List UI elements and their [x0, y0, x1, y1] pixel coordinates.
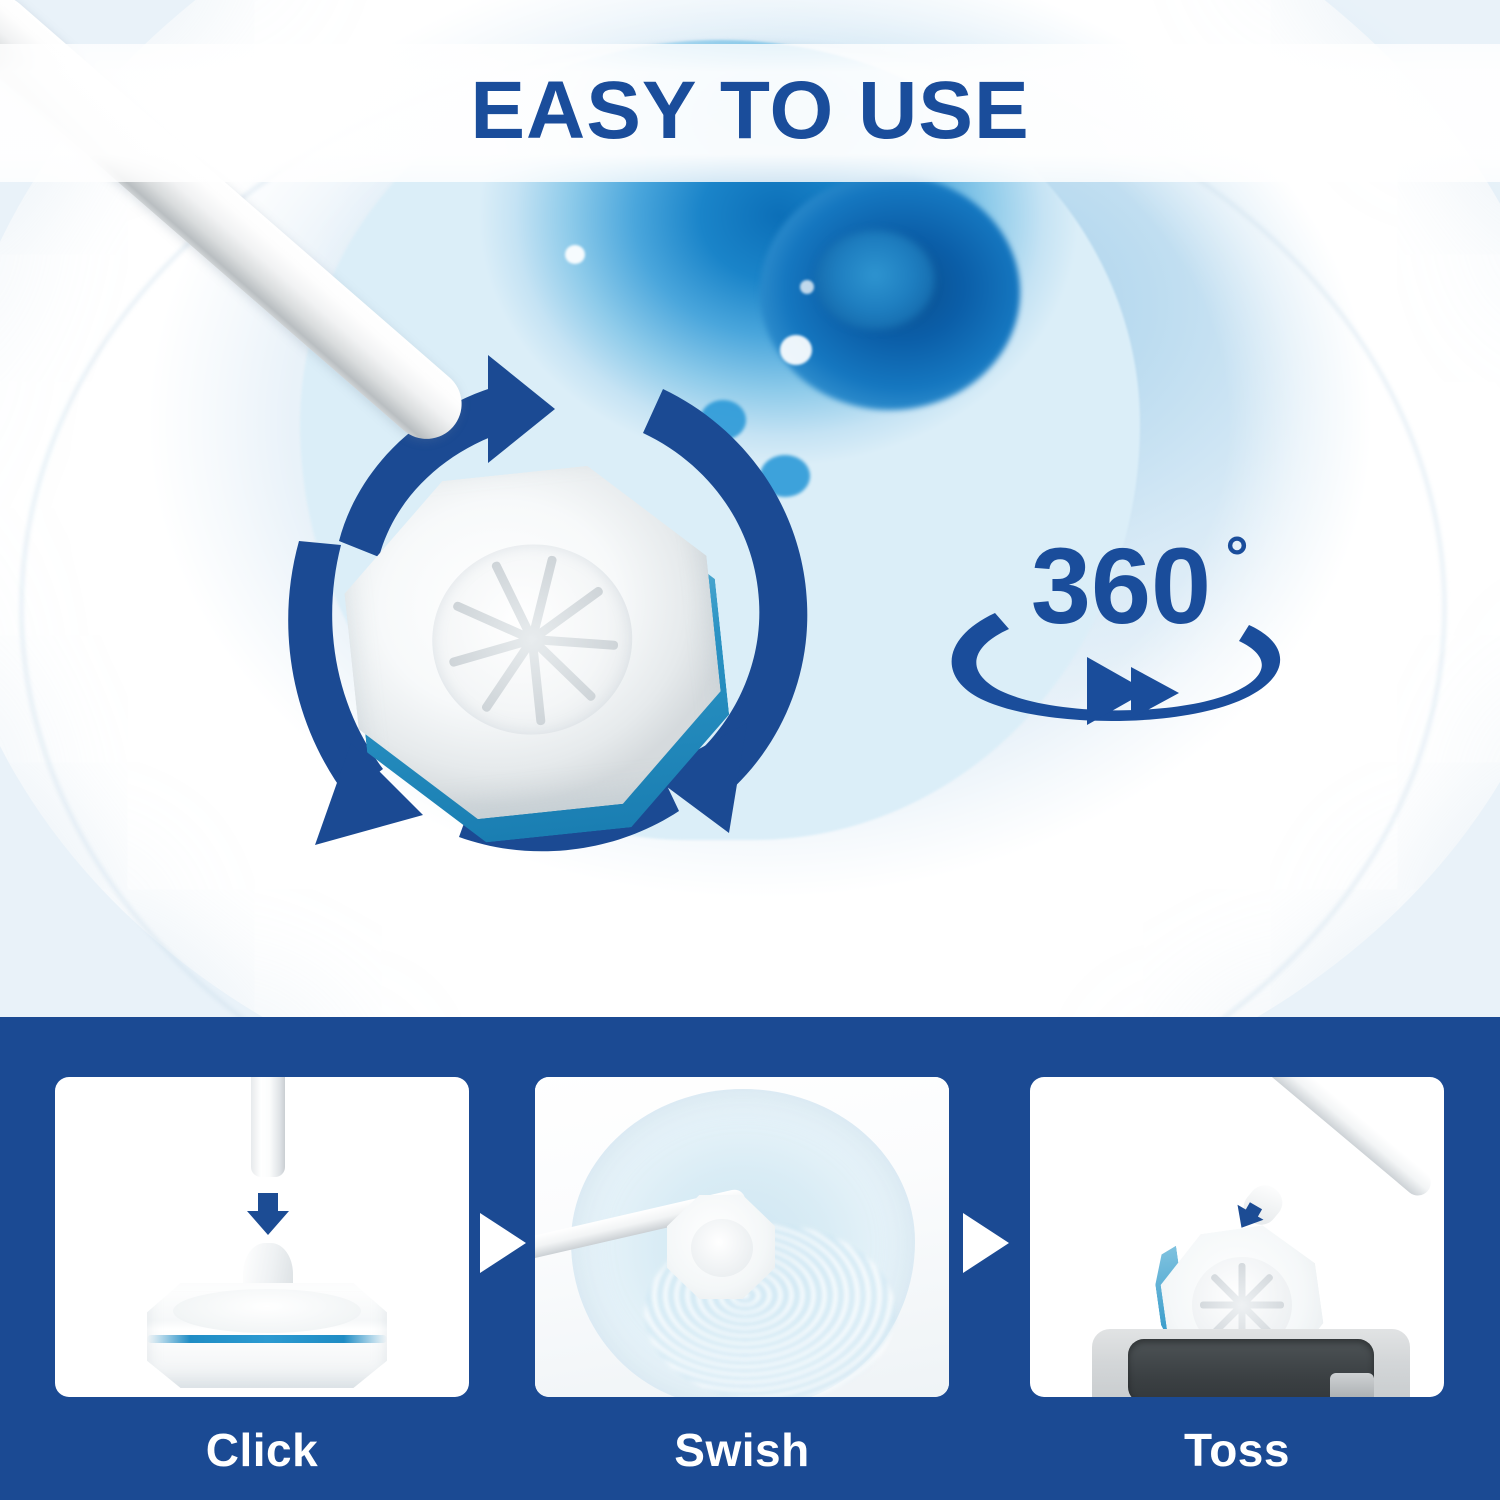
cleaning-pad-hub: [691, 1219, 753, 1277]
page-title: EASY TO USE: [0, 58, 1500, 164]
cleaning-pad-top-face: [173, 1289, 361, 1333]
product-infographic: 360 ° EASY TO USE Click: [0, 0, 1500, 1500]
wand-handle-shaft: [251, 1077, 285, 1177]
toilet-drain-core: [815, 230, 935, 330]
arrow-down-icon-head: [247, 1211, 289, 1235]
step-click: Click: [55, 1077, 469, 1477]
step-label-swish: Swish: [535, 1423, 949, 1477]
cleaning-pad-blue-stripe: [147, 1335, 387, 1343]
360-badge-number: 360: [1031, 525, 1211, 646]
arrow-down-icon: [258, 1193, 278, 1213]
steps-section: Click Swish: [0, 1017, 1500, 1500]
step-toss-image: [1030, 1077, 1444, 1397]
wand-handle-shaft: [1190, 1077, 1437, 1201]
step-label-toss: Toss: [1030, 1423, 1444, 1477]
step-label-click: Click: [55, 1423, 469, 1477]
triangle-right-icon: [963, 1213, 1009, 1273]
step-toss: Toss: [1030, 1077, 1444, 1477]
water-bubble-icon: [565, 245, 585, 264]
hero-section: 360 ° EASY TO USE: [0, 0, 1500, 1017]
triangle-right-icon: [480, 1213, 526, 1273]
cleaning-pad: [334, 454, 742, 859]
trash-bin-handle: [1330, 1373, 1374, 1397]
360-degree-badge: 360 °: [935, 525, 1315, 740]
water-bubble-icon: [800, 280, 814, 294]
step-swish-image: [535, 1077, 949, 1397]
step-click-image: [55, 1077, 469, 1397]
360-badge-degree-symbol: °: [1225, 525, 1248, 590]
step-swish: Swish: [535, 1077, 949, 1477]
